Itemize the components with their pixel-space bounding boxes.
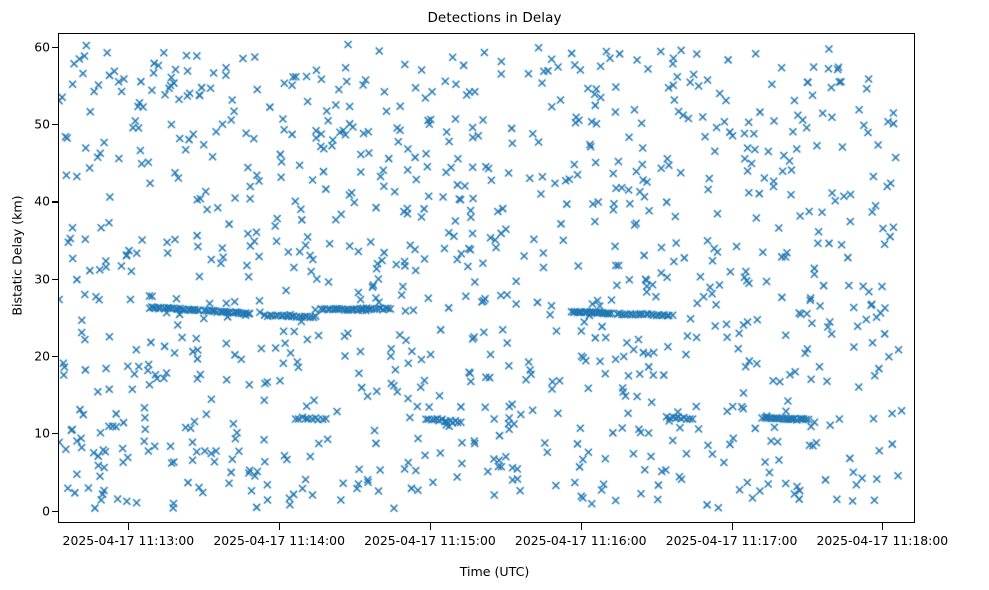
x-tick-label: 2025-04-17 11:18:00 <box>817 533 949 548</box>
x-tick-mark <box>581 523 582 530</box>
y-tick-label: 50 <box>34 117 50 132</box>
x-tick-label: 2025-04-17 11:13:00 <box>63 533 195 548</box>
x-tick-mark <box>882 523 883 530</box>
x-tick-label: 2025-04-17 11:17:00 <box>666 533 798 548</box>
x-tick-mark <box>128 523 129 530</box>
x-tick-label: 2025-04-17 11:16:00 <box>515 533 647 548</box>
y-tick-label: 20 <box>34 349 50 364</box>
y-tick-label: 30 <box>34 271 50 286</box>
y-tick-label: 0 <box>42 503 50 518</box>
matplotlib-figure: Detections in Delay 0102030405060 2025-0… <box>0 0 989 590</box>
chart-title: Detections in Delay <box>0 10 989 26</box>
y-tick-label: 40 <box>34 194 50 209</box>
y-axis-tick-labels: 0102030405060 <box>0 0 50 590</box>
y-axis-label: Bistatic Delay (km) <box>10 131 25 381</box>
x-tick-mark <box>732 523 733 530</box>
x-tick-mark <box>279 523 280 530</box>
y-tick-label: 10 <box>34 426 50 441</box>
scatter-series-detections <box>59 34 915 523</box>
x-tick-label: 2025-04-17 11:15:00 <box>364 533 496 548</box>
plot-area <box>58 33 915 523</box>
x-tick-label: 2025-04-17 11:14:00 <box>213 533 345 548</box>
y-tick-label: 60 <box>34 39 50 54</box>
x-tick-mark <box>430 523 431 530</box>
x-axis-label: Time (UTC) <box>0 564 989 579</box>
